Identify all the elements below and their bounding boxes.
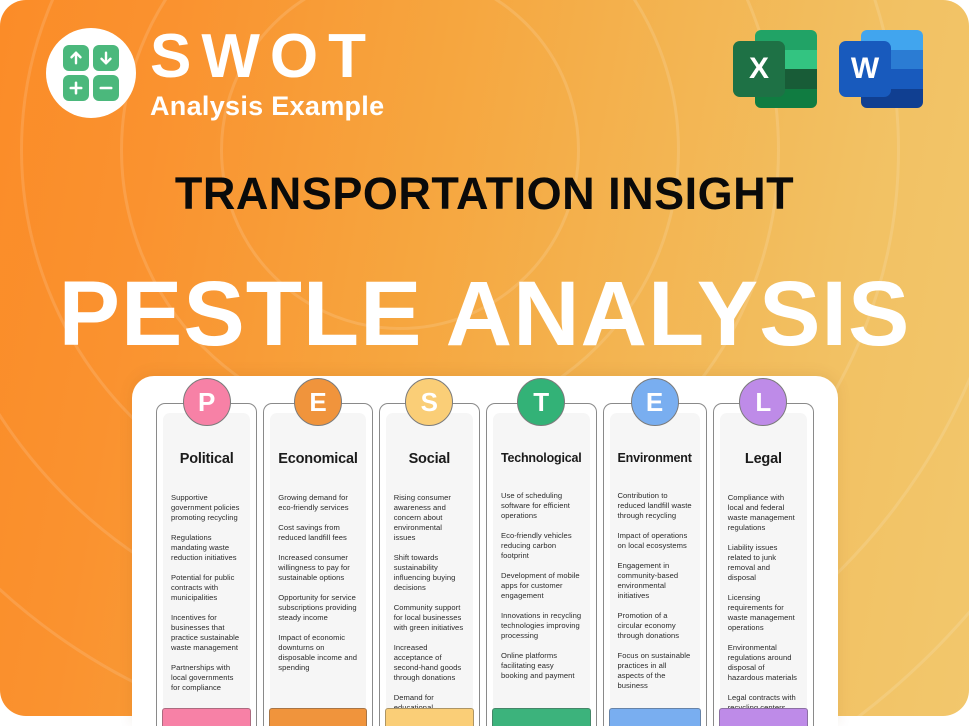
word-icon-letter: W [839,41,891,97]
pestle-column-panel: SocialRising consumer awareness and conc… [386,413,473,726]
pestle-column-title: Economical [278,451,357,467]
brand-subtitle: Analysis Example [150,93,384,120]
excel-icon: X [733,27,817,111]
pestle-column-title: Social [394,451,465,467]
pestle-item: Innovations in recycling technologies im… [501,611,582,641]
pestle-item: Promotion of a circular economy through … [618,611,692,641]
pestle-item-list: Use of scheduling software for efficient… [501,491,582,681]
word-icon: W [839,27,923,111]
pestle-letter-badge: E [631,378,679,426]
pestle-card: PPoliticalSupportive government policies… [132,376,838,726]
pestle-item: Partnerships with local governments for … [171,663,242,693]
pestle-column-environment[interactable]: EEnvironmentContribution to reduced land… [603,403,707,726]
pestle-columns: PPoliticalSupportive government policies… [156,403,814,726]
pestle-item: Cost savings from reduced landfill fees [278,523,357,543]
pestle-item: Shift towards sustainability influencing… [394,553,465,593]
pestle-item: Focus on sustainable practices in all as… [618,651,692,691]
pestle-item: Development of mobile apps for customer … [501,571,582,601]
brand-logo: SWOT Analysis Example [46,26,384,120]
pestle-column-title: Legal [728,451,799,467]
arrow-up-icon [63,45,89,71]
swot-quadrant-icon [46,28,136,118]
pestle-column-color-strip [385,708,474,726]
pestle-item: Use of scheduling software for efficient… [501,491,582,521]
pestle-item: Licensing requirements for waste managem… [728,593,799,633]
pestle-item: Eco-friendly vehicles reducing carbon fo… [501,531,582,561]
pestle-item: Regulations mandating waste reduction in… [171,533,242,563]
page-title: PESTLE ANALYSIS [0,268,969,360]
pestle-item: Liability issues related to junk removal… [728,543,799,583]
pestle-item-list: Rising consumer awareness and concern ab… [394,493,465,726]
excel-icon-letter: X [733,41,785,97]
pestle-letter-badge: L [739,378,787,426]
pestle-column-color-strip [609,708,701,726]
brand-title: SWOT [150,26,384,88]
pestle-column-technological[interactable]: TTechnologicalUse of scheduling software… [486,403,597,726]
pestle-column-color-strip [269,708,366,726]
pestle-column-political[interactable]: PPoliticalSupportive government policies… [156,403,257,726]
pestle-item: Contribution to reduced landfill waste t… [618,491,692,521]
pestle-item: Growing demand for eco-friendly services [278,493,357,513]
plus-icon [63,75,89,101]
pestle-item: Community support for local businesses w… [394,603,465,633]
pestle-item-list: Supportive government policies promoting… [171,493,242,693]
pestle-column-social[interactable]: SSocialRising consumer awareness and con… [379,403,480,726]
pestle-item-list: Contribution to reduced landfill waste t… [618,491,692,691]
pestle-item: Increased consumer willingness to pay fo… [278,553,357,583]
pestle-column-color-strip [162,708,251,726]
page-subtitle: TRANSPORTATION INSIGHT [0,168,969,220]
pestle-item: Opportunity for service subscriptions pr… [278,593,357,623]
pestle-column-title: Technological [501,451,582,465]
header: SWOT Analysis Example X [0,0,969,140]
pestle-column-economical[interactable]: EEconomicalGrowing demand for eco-friend… [263,403,372,726]
pestle-item: Impact of economic downturns on disposab… [278,633,357,673]
arrow-down-icon [93,45,119,71]
pestle-item: Incentives for businesses that practice … [171,613,242,653]
pestle-letter-badge: E [294,378,342,426]
pestle-item: Compliance with local and federal waste … [728,493,799,533]
pestle-column-panel: PoliticalSupportive government policies … [163,413,250,726]
office-app-icons: X W [733,27,923,111]
pestle-item: Environmental regulations around disposa… [728,643,799,683]
pestle-column-panel: TechnologicalUse of scheduling software … [493,413,590,726]
pestle-item: Potential for public contracts with muni… [171,573,242,603]
pestle-letter-badge: T [517,378,565,426]
pestle-column-title: Environment [618,451,692,465]
minus-icon [93,75,119,101]
pestle-column-legal[interactable]: LLegalCompliance with local and federal … [713,403,814,726]
pestle-column-color-strip [492,708,591,726]
pestle-column-panel: LegalCompliance with local and federal w… [720,413,807,726]
pestle-analysis-poster: SWOT Analysis Example X [0,0,969,726]
pestle-column-color-strip [719,708,808,726]
pestle-item-list: Growing demand for eco-friendly services… [278,493,357,673]
pestle-letter-badge: S [405,378,453,426]
pestle-item: Online platforms facilitating easy booki… [501,651,582,681]
pestle-item: Rising consumer awareness and concern ab… [394,493,465,543]
pestle-column-title: Political [171,451,242,467]
pestle-column-panel: EconomicalGrowing demand for eco-friendl… [270,413,365,726]
pestle-letter-badge: P [183,378,231,426]
pestle-item: Supportive government policies promoting… [171,493,242,523]
pestle-column-panel: EnvironmentContribution to reduced landf… [610,413,700,726]
pestle-item-list: Compliance with local and federal waste … [728,493,799,723]
pestle-item: Engagement in community-based environmen… [618,561,692,601]
pestle-item: Impact of operations on local ecosystems [618,531,692,551]
pestle-item: Increased acceptance of second-hand good… [394,643,465,683]
